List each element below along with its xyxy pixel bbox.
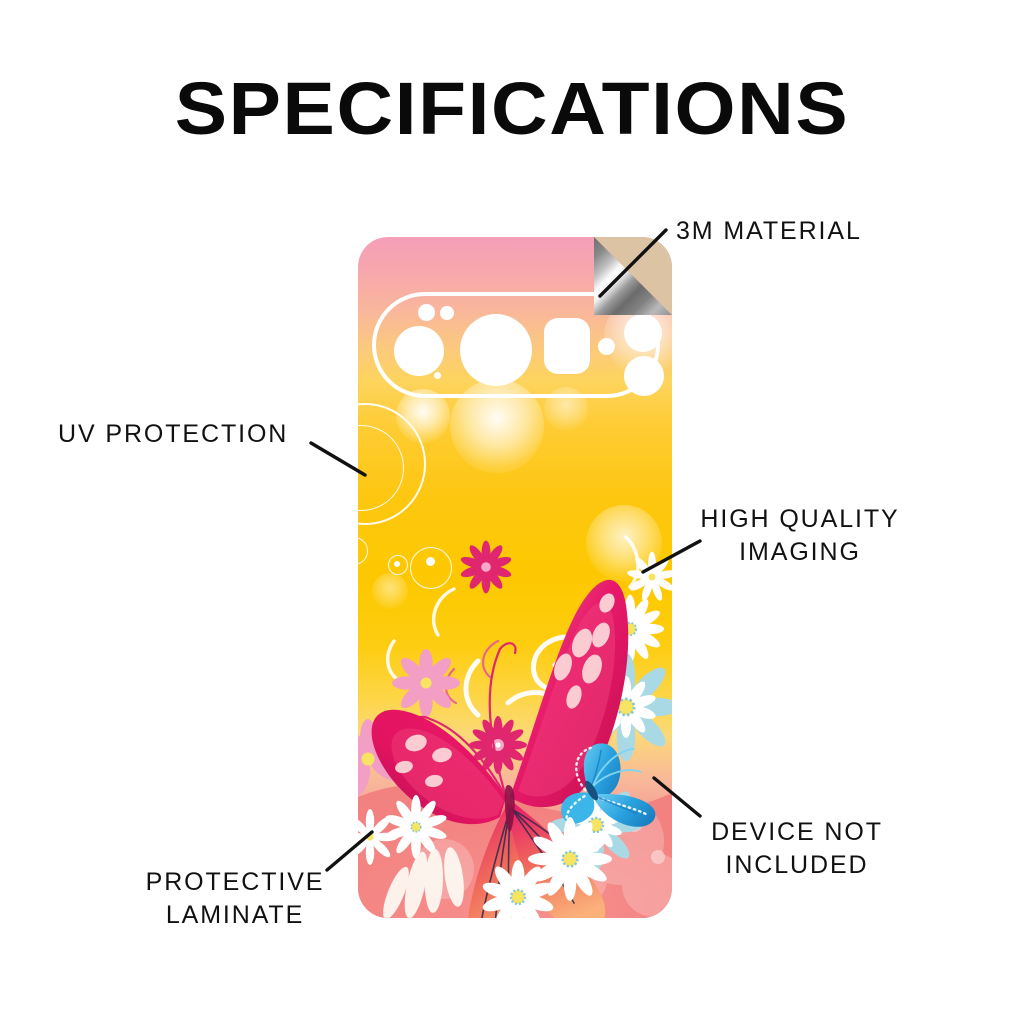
callout-label-protective-laminate: PROTECTIVE LAMINATE (145, 866, 325, 932)
leader-line-uv-protection (311, 443, 365, 475)
callout-label-uv-protection: UV PROTECTION (58, 418, 288, 451)
sensor-cutout-dot (598, 338, 615, 355)
callout-label-device-not-included: DEVICE NOT INCLUDED (706, 816, 888, 882)
microphone-cutout (434, 372, 441, 379)
sensor-cutout-small-a (418, 304, 435, 321)
specifications-graphic: SPECIFICATIONS (0, 0, 1024, 1024)
lens-cutout-main (460, 314, 532, 386)
flash-cutout-top (624, 314, 662, 352)
callout-label-3m-material: 3M MATERIAL (676, 215, 862, 248)
sensor-cutout-small-b (440, 306, 454, 320)
flash-cutout-bottom (624, 356, 664, 396)
lens-cutout-tele (544, 318, 590, 374)
callout-label-high-quality-imaging: HIGH QUALITY IMAGING (694, 503, 906, 569)
lens-cutout-wide (394, 326, 444, 376)
phone-skin-preview (358, 237, 672, 918)
peel-corner-3m-film (594, 237, 672, 315)
page-title: SPECIFICATIONS (0, 72, 1024, 146)
